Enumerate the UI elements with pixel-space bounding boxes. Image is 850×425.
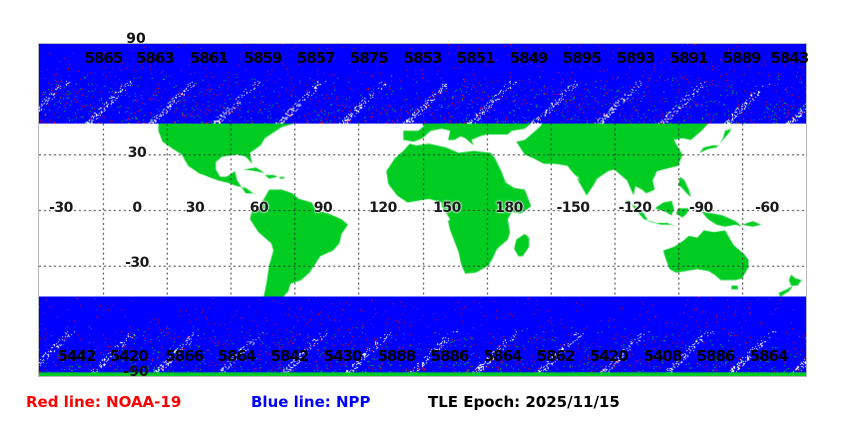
- longitude-label-0: 0: [132, 200, 141, 216]
- latitude-label-minus30: -30: [125, 255, 149, 271]
- orbit-number: 5861: [190, 49, 228, 67]
- orbit-number: 5859: [244, 49, 282, 67]
- orbit-number: 5895: [563, 49, 601, 67]
- orbit-number: 5888: [377, 347, 415, 365]
- orbit-number: 5886: [697, 347, 735, 365]
- longitude-label-minus90: -90: [689, 200, 713, 216]
- orbit-number: 5851: [457, 49, 495, 67]
- orbit-number: 5843: [770, 49, 808, 67]
- orbit-number: 5893: [617, 49, 655, 67]
- orbit-number: 5408: [644, 347, 682, 365]
- orbit-number: 5857: [297, 49, 335, 67]
- orbit-number: 5875: [350, 49, 388, 67]
- longitude-label-minus30: -30: [49, 200, 73, 216]
- orbit-number-strip-top: 5865586358615859585758755853585158495895…: [38, 49, 807, 67]
- longitude-label-180: 180: [495, 200, 523, 216]
- legend: Red line: NOAA-19 Blue line: NPP TLE Epo…: [0, 393, 850, 425]
- orbit-number: 5842: [271, 347, 309, 365]
- longitude-label-60: 60: [250, 200, 268, 216]
- world-map[interactable]: 30-300306090120150180-150-120-90-60-30: [38, 43, 807, 377]
- orbit-number: 5430: [324, 347, 362, 365]
- legend-npp: Blue line: NPP: [251, 393, 371, 411]
- orbit-number: 5886: [431, 347, 469, 365]
- orbit-number: 5864: [484, 347, 522, 365]
- orbit-number: 5849: [510, 49, 548, 67]
- longitude-label-90: 90: [314, 200, 332, 216]
- orbit-number: 5866: [165, 347, 203, 365]
- orbit-number: 5862: [537, 347, 575, 365]
- longitude-label-150: 150: [433, 200, 461, 216]
- orbit-number: 5891: [670, 49, 708, 67]
- orbit-number-strip-bottom: 5442542058665864584254305888588658645862…: [38, 347, 807, 365]
- longitude-label-minus60: -60: [755, 200, 779, 216]
- orbit-number: 5853: [404, 49, 442, 67]
- latitude-label-minus90: -90: [123, 364, 148, 380]
- orbit-number: 5889: [723, 49, 761, 67]
- longitude-label-30: 30: [186, 200, 204, 216]
- orbit-number: 5863: [136, 49, 174, 67]
- longitude-label-120: 120: [369, 200, 397, 216]
- legend-tle-epoch: TLE Epoch: 2025/11/15: [428, 393, 620, 411]
- orbit-number: 5420: [590, 347, 628, 365]
- longitude-label-minus120: -120: [618, 200, 651, 216]
- orbit-number: 5864: [218, 347, 256, 365]
- orbit-number: 5864: [750, 347, 788, 365]
- orbit-number: 5420: [110, 347, 148, 365]
- longitude-label-minus150: -150: [556, 200, 589, 216]
- latitude-label-30: 30: [128, 145, 146, 161]
- orbit-number: 5442: [58, 347, 96, 365]
- legend-noaa19: Red line: NOAA-19: [26, 393, 181, 411]
- screenshot-root: 90 30-300306090120150180-150-120-90-60-3…: [0, 0, 850, 425]
- orbit-number: 5865: [84, 49, 122, 67]
